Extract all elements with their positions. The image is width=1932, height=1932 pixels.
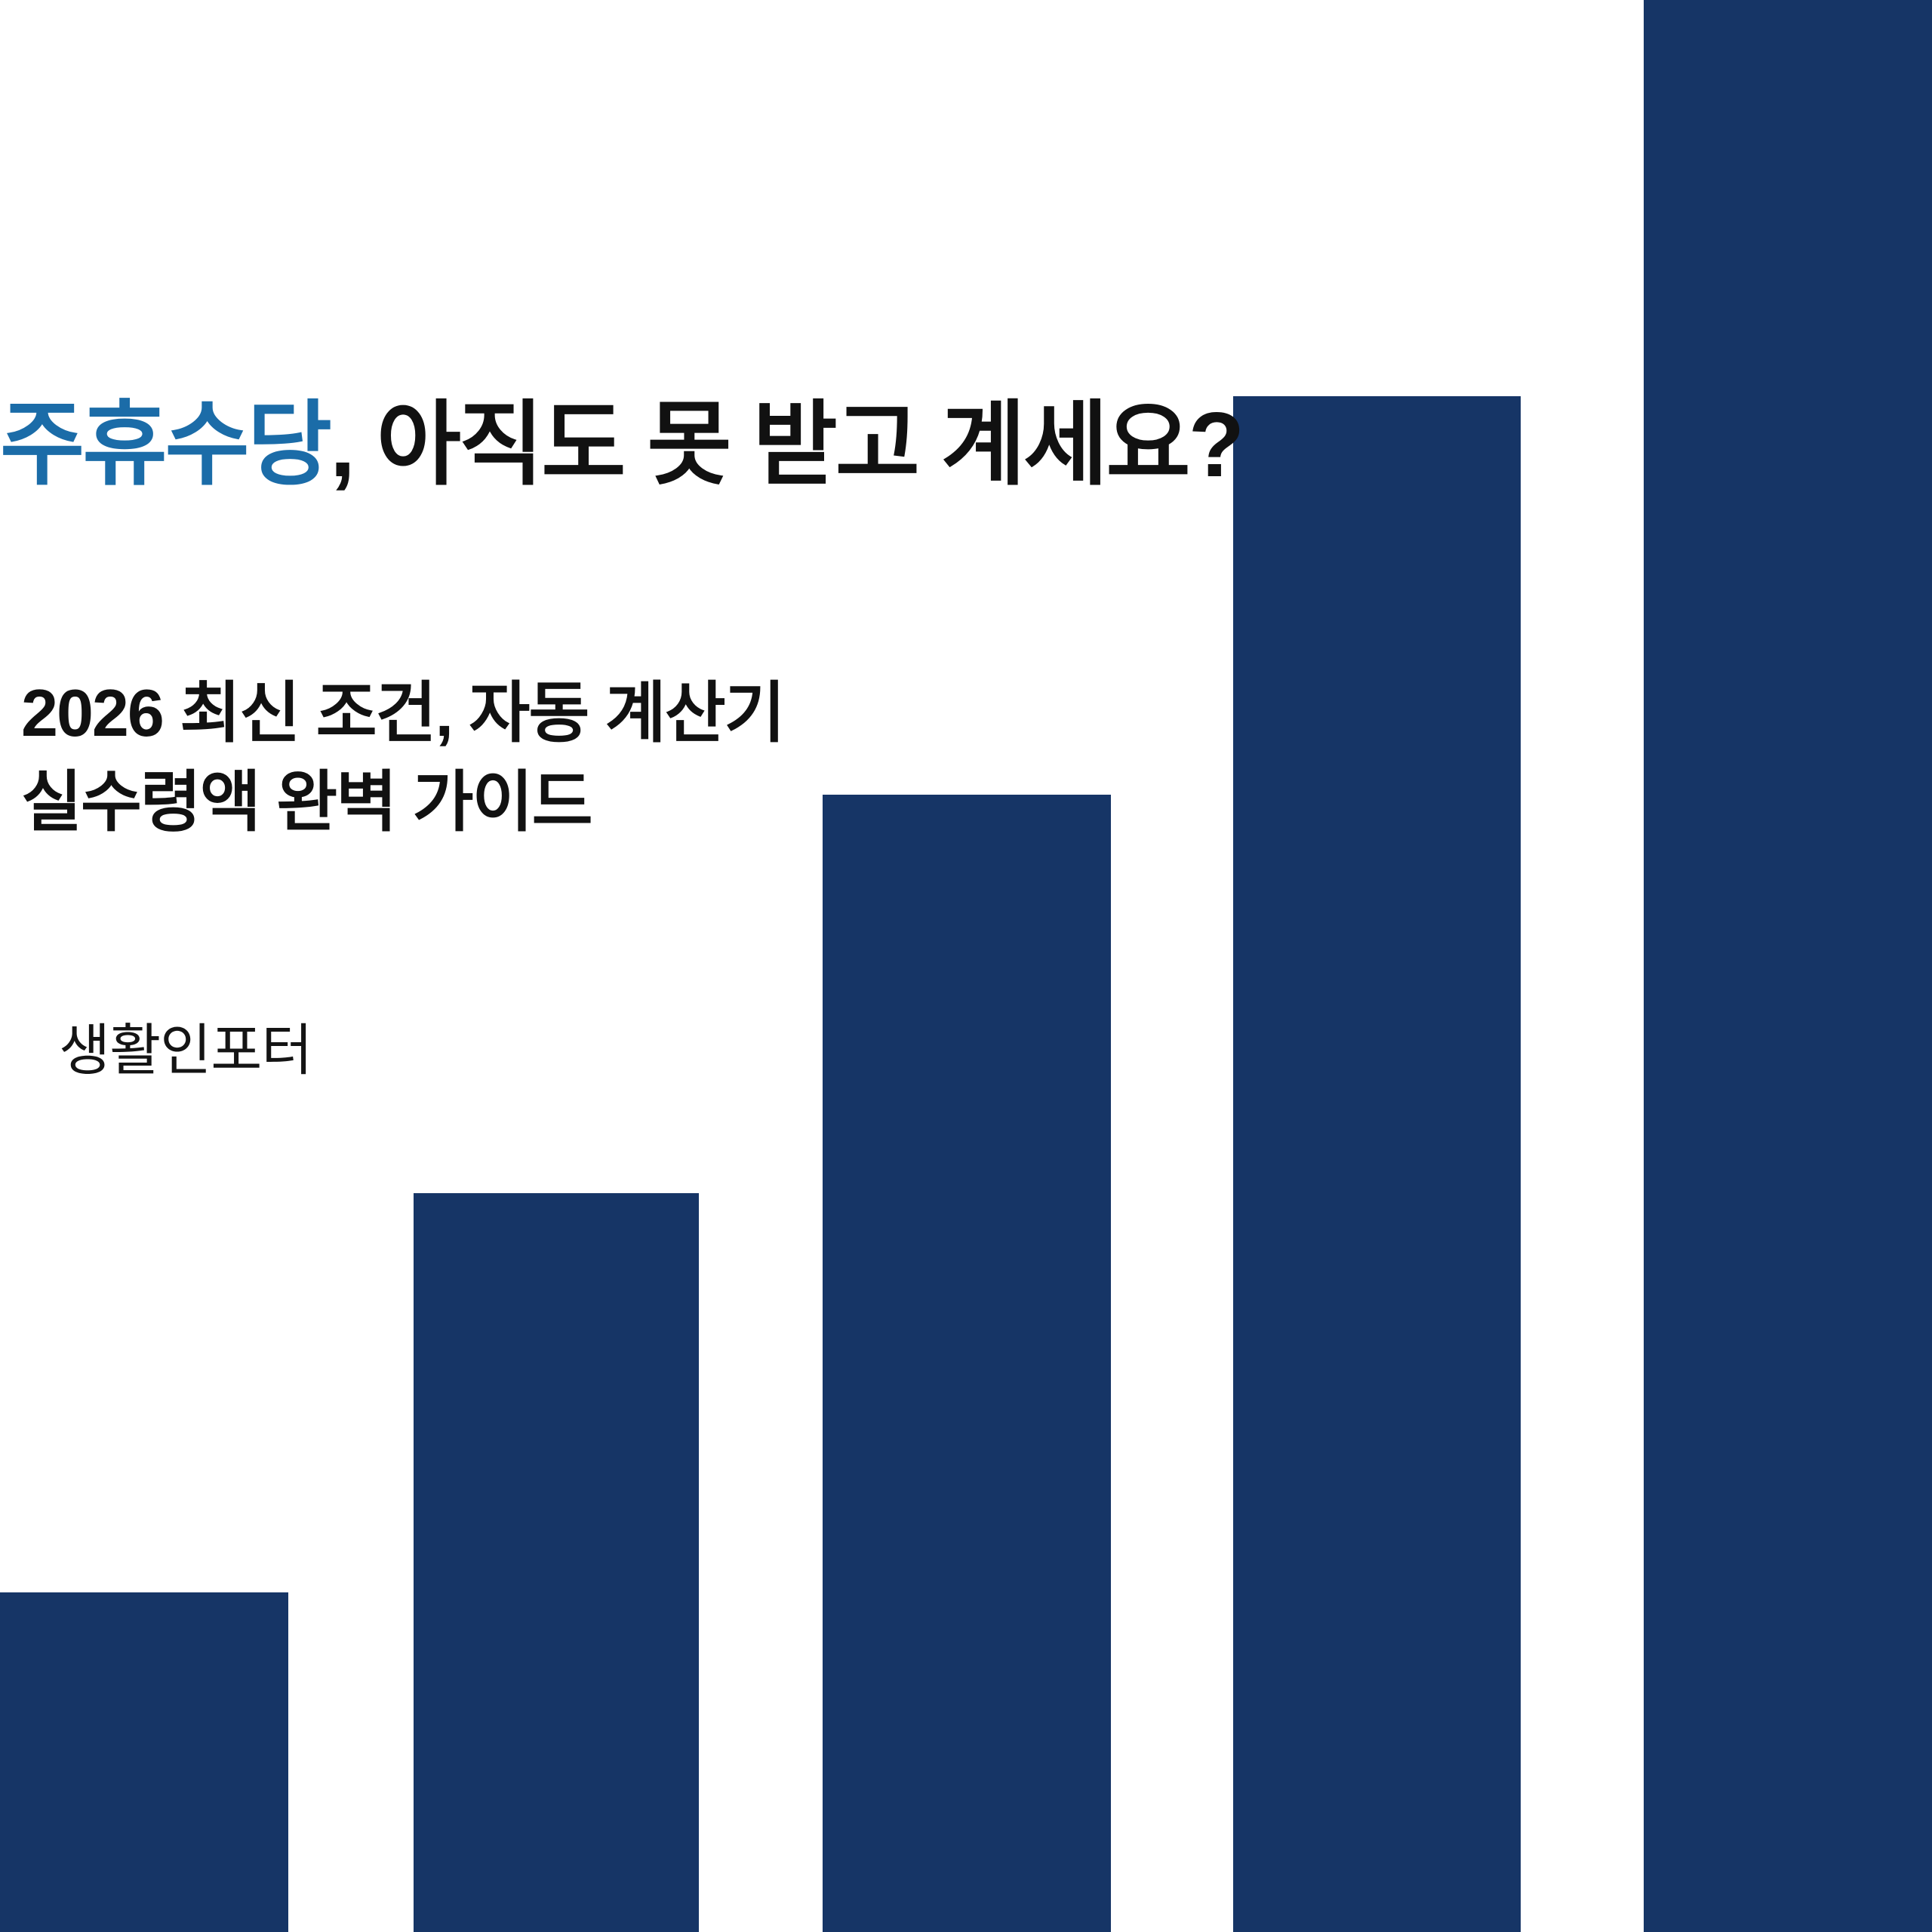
chart-bar-3 bbox=[823, 795, 1111, 1932]
byline-author: 생활인포터 bbox=[59, 1017, 312, 1084]
page-title: 주휴수당, 아직도 못 받고 계세요? bbox=[0, 391, 1268, 500]
headline-rest: , 아직도 못 받고 계세요? bbox=[330, 393, 1242, 496]
subtitle-line-1: 2026 최신 조건, 자동 계산기 bbox=[21, 669, 1229, 758]
subtitle-line-2: 실수령액 완벽 가이드 bbox=[21, 758, 1229, 847]
headline-keyword: 주휴수당 bbox=[0, 393, 330, 496]
poster-canvas: 주휴수당, 아직도 못 받고 계세요? 2026 최신 조건, 자동 계산기 실… bbox=[0, 0, 1932, 1932]
subtitle: 2026 최신 조건, 자동 계산기 실수령액 완벽 가이드 bbox=[21, 669, 1229, 847]
chart-bar-5 bbox=[1644, 0, 1932, 1932]
chart-bar-2 bbox=[414, 1193, 699, 1932]
chart-bar-1 bbox=[0, 1592, 288, 1932]
background-bar-chart bbox=[0, 0, 1932, 1932]
chart-bar-4 bbox=[1233, 396, 1521, 1932]
